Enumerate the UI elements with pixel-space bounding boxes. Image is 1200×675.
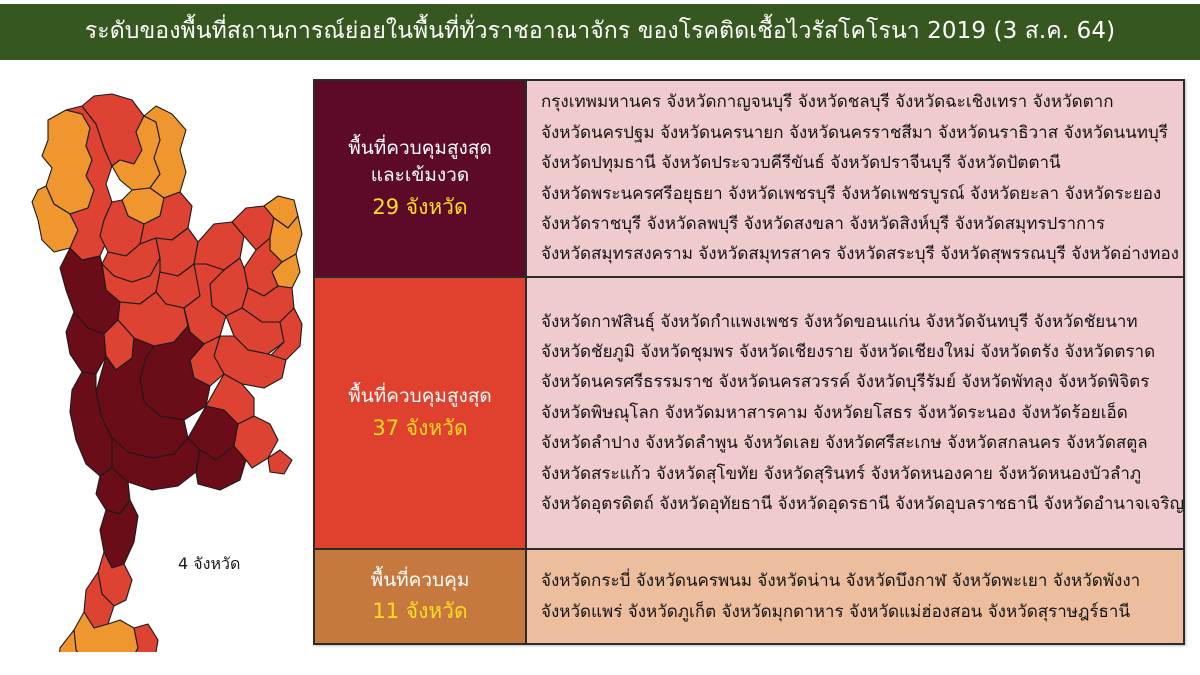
table-row: พื้นที่ควบคุมสูงสุด 37 จังหวัด จังหวัดกา… xyxy=(315,278,1183,550)
zone-province-list-darkest-control: กรุงเทพมหานคร จังหวัดกาญจนบุรี จังหวัดชล… xyxy=(527,81,1183,276)
province-line: กรุงเทพมหานคร จังหวัดกาญจนบุรี จังหวัดชล… xyxy=(541,87,1183,117)
province-line: จังหวัดอุตรดิตถ์ จังหวัดอุทัยธานี จังหวั… xyxy=(541,489,1183,519)
table-row: พื้นที่ควบคุม 11 จังหวัด จังหวัดกระบี่ จ… xyxy=(315,550,1183,643)
map-annotation-4-provinces: 4 จังหวัด xyxy=(178,552,240,577)
province-line: จังหวัดนครปฐม จังหวัดนครนายก จังหวัดนครร… xyxy=(541,118,1183,148)
zone-label-line: พื้นที่ควบคุมสูงสุด xyxy=(348,383,492,411)
province-trat-tail xyxy=(268,450,292,474)
province-line: จังหวัดพิษณุโลก จังหวัดมหาสารคาม จังหวัด… xyxy=(541,398,1183,428)
zone-province-list-highest-control: จังหวัดกาฬสินธุ์ จังหวัดกำแพงเพชร จังหวั… xyxy=(527,278,1183,548)
zone-label-line: และเข้มงวด xyxy=(371,162,469,190)
zone-province-list-control: จังหวัดกระบี่ จังหวัดนครพนม จังหวัดน่าน … xyxy=(527,550,1183,643)
zone-label-line: พื้นที่ควบคุม xyxy=(371,567,470,595)
province-line: จังหวัดพระนครศรีอยุธยา จังหวัดเพชรบุรี จ… xyxy=(541,179,1183,209)
zone-label-darkest-control: พื้นที่ควบคุมสูงสุด และเข้มงวด 29 จังหวั… xyxy=(315,81,527,276)
thailand-map-panel: 4 จังหวัด xyxy=(0,62,308,675)
zone-classification-table: พื้นที่ควบคุมสูงสุด และเข้มงวด 29 จังหวั… xyxy=(313,79,1185,645)
province-line: จังหวัดแพร่ จังหวัดภูเก็ต จังหวัดมุกดาหา… xyxy=(541,597,1183,627)
province-line: จังหวัดสระแก้ว จังหวัดสุโขทัย จังหวัดสุร… xyxy=(541,459,1183,489)
zone-label-control: พื้นที่ควบคุม 11 จังหวัด xyxy=(315,550,527,643)
province-line: จังหวัดราชบุรี จังหวัดลพบุรี จังหวัดสงขล… xyxy=(541,209,1183,239)
province-line: จังหวัดนครศรีธรรมราช จังหวัดนครสวรรค์ จั… xyxy=(541,367,1183,397)
table-row: พื้นที่ควบคุมสูงสุด และเข้มงวด 29 จังหวั… xyxy=(315,81,1183,278)
thailand-choropleth-map xyxy=(8,72,303,652)
province-line: จังหวัดกาฬสินธุ์ จังหวัดกำแพงเพชร จังหวั… xyxy=(541,307,1183,337)
province-line: จังหวัดลำปาง จังหวัดลำพูน จังหวัดเลย จัง… xyxy=(541,428,1183,458)
zone-province-count: 11 จังหวัด xyxy=(372,596,467,626)
page-title: ระดับของพื้นที่สถานการณ์ย่อยในพื้นที่ทั่… xyxy=(85,19,1115,44)
header-bar: ระดับของพื้นที่สถานการณ์ย่อยในพื้นที่ทั่… xyxy=(0,4,1200,60)
zone-label-highest-control: พื้นที่ควบคุมสูงสุด 37 จังหวัด xyxy=(315,278,527,548)
province-line: จังหวัดสมุทรสงคราม จังหวัดสมุทรสาคร จังห… xyxy=(541,239,1183,269)
province-line: จังหวัดชัยภูมิ จังหวัดชุมพร จังหวัดเชียง… xyxy=(541,337,1183,367)
province-line: จังหวัดปทุมธานี จังหวัดประจวบคีรีขันธ์ จ… xyxy=(541,148,1183,178)
zone-province-count: 37 จังหวัด xyxy=(372,413,467,443)
zone-label-line: พื้นที่ควบคุมสูงสุด xyxy=(348,135,492,163)
zone-province-count: 29 จังหวัด xyxy=(372,192,467,222)
province-line: จังหวัดกระบี่ จังหวัดนครพนม จังหวัดน่าน … xyxy=(541,566,1183,596)
